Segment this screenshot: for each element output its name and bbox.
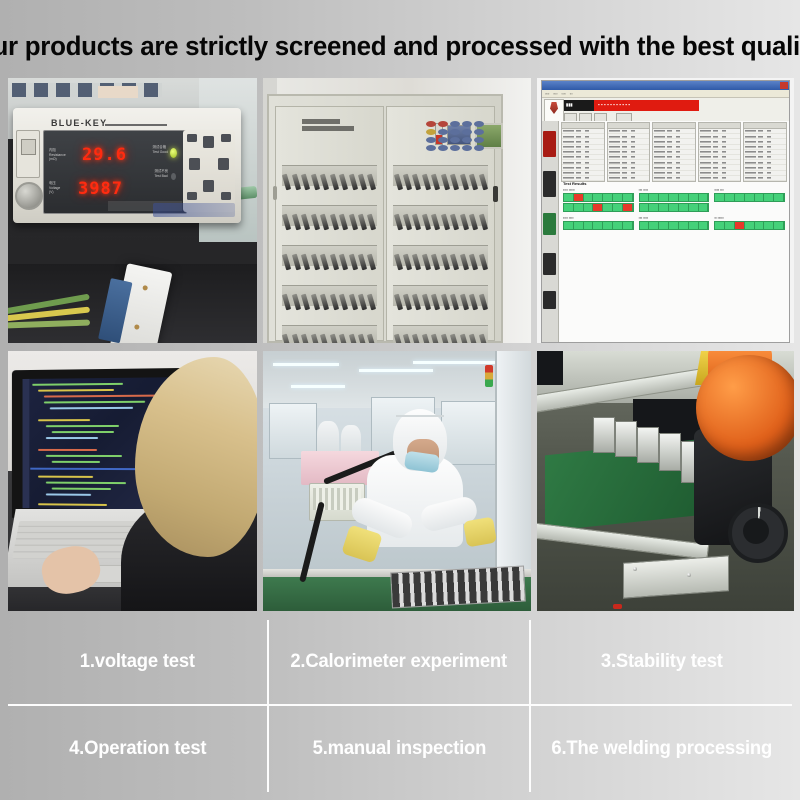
results-heading: Test Results: [563, 181, 785, 186]
caption-cell-6: 6.The welding processing: [531, 706, 792, 792]
caption-cell-1: 1.voltage test: [8, 620, 269, 706]
ceiling-light-3: [413, 361, 497, 364]
glove-right: [463, 517, 497, 548]
status-bar-pass: [563, 193, 634, 202]
ceiling-light-2: [359, 369, 433, 372]
shelf-4: [282, 285, 377, 306]
status-bar-pass: [639, 193, 710, 202]
key-3[interactable]: [187, 192, 197, 200]
caption-cell-2: 2.Calorimeter experiment: [269, 620, 530, 706]
parameter-tables: [561, 122, 787, 177]
fuse-port: [16, 130, 40, 178]
clip-row-r5: [393, 334, 488, 343]
clip-row-4: [282, 294, 377, 311]
result-group-3: ▪▪▪▪ ▪▪▪: [714, 188, 785, 212]
label-test-bad: 测试不良Test Bad: [154, 169, 168, 178]
caption-label-1: 1.voltage test: [80, 651, 195, 673]
key-enter[interactable]: [221, 192, 231, 200]
formation-cabinet: [267, 94, 503, 343]
shelf-items: [12, 83, 162, 97]
label-test-good: 测试合格Test Good: [153, 145, 168, 154]
result-group-6: ▪▪ ▪▪▪▪▪: [714, 216, 785, 230]
bg-worker-1: [317, 421, 339, 455]
test-results-section: Test Results ▪▪▪▪ ▪▪▪▪▪ ▪▪▪ ▪▪▪▪: [563, 181, 785, 234]
slide-screw-1: [633, 567, 637, 571]
photo-stability-test: ▫▫▫ ▫▫▫ ▫▫▫ ▫▫ ▮▮▮ ▪▪▪▪▪▪▪▪▪▪▪: [537, 78, 794, 343]
linear-slide: [623, 555, 729, 598]
guide-rail-bottom: [537, 522, 709, 560]
photo-voltage-test: BLUE-KEY 内阻Resistance(mΩ) 电压Voltage(V) 2…: [8, 78, 257, 343]
result-caption: ▪▪▪▪ ▪▪▪▪▪: [563, 188, 634, 192]
caption-label-3: 3.Stability test: [600, 651, 722, 673]
parameter-table-4: [698, 122, 742, 182]
tester-unit: BLUE-KEY 内阻Resistance(mΩ) 电压Voltage(V) 2…: [13, 108, 241, 223]
app-window: ▫▫▫ ▫▫▫ ▫▫▫ ▫▫ ▮▮▮ ▪▪▪▪▪▪▪▪▪▪▪: [541, 80, 790, 343]
photo-gallery: BLUE-KEY 内阻Resistance(mΩ) 电压Voltage(V) 2…: [8, 78, 794, 615]
cleanroom-operator: [361, 409, 463, 559]
toolbar: ▮▮▮ ▪▪▪▪▪▪▪▪▪▪▪: [542, 98, 789, 123]
result-group-1: ▪▪▪▪ ▪▪▪▪▪: [563, 188, 634, 212]
shelf-r1: [393, 165, 488, 186]
brand-rule: [105, 124, 167, 126]
hood-seam: [396, 415, 444, 417]
status-lamp-green: [170, 148, 177, 158]
result-caption: ▪▪ ▪▪▪▪▪: [714, 216, 785, 220]
shelf-1: [282, 165, 377, 186]
shelf-2: [282, 205, 377, 226]
parameter-table-3: [652, 122, 696, 182]
shelf-r2: [393, 205, 488, 226]
sidebar-item-5[interactable]: [543, 291, 556, 309]
fixture-block-1: [593, 417, 615, 453]
result-group-2: ▪▪▪ ▪▪▪▪: [639, 188, 710, 212]
gear-hub: [743, 518, 769, 544]
caption-table: 1.voltage test 2.Calorimeter experiment …: [8, 620, 792, 792]
shelf-r3: [393, 245, 488, 266]
clip-row-3: [282, 254, 377, 271]
sidebar-item-4[interactable]: [543, 253, 556, 275]
banner-mark: ▮▮▮: [566, 102, 573, 107]
clip-row-r2: [393, 214, 488, 231]
sidebar-item-2[interactable]: [543, 171, 556, 197]
shelf-box: [98, 86, 138, 98]
title-bar: [542, 81, 789, 90]
model-line-2: [302, 126, 354, 131]
device-brand-label: BLUE-KEY: [51, 118, 107, 128]
editor-gutter: [23, 379, 30, 508]
photo-manual-inspection: [263, 351, 531, 611]
clip-row-5: [282, 334, 377, 343]
cabinet-door-left[interactable]: [275, 106, 384, 341]
sidebar-item-1[interactable]: [543, 131, 556, 157]
menu-item-help[interactable]: ▫▫: [570, 91, 573, 96]
caption-cell-4: 4.Operation test: [8, 706, 269, 792]
door-handle-left[interactable]: [273, 186, 277, 200]
manufacturer-label: [153, 203, 235, 217]
clip-row-r1: [393, 174, 488, 191]
key-up[interactable]: [203, 136, 214, 148]
parameter-table-5: [743, 122, 787, 182]
clip-row-r4: [393, 294, 488, 311]
clip-row-1: [282, 174, 377, 191]
led-readout-primary: 29.6: [82, 145, 127, 165]
close-icon[interactable]: [780, 82, 788, 89]
key-right[interactable]: [218, 158, 229, 170]
caption-cell-5: 5.manual inspection: [269, 706, 530, 792]
results-row-1: ▪▪▪▪ ▪▪▪▪▪ ▪▪▪ ▪▪▪▪ ▪▪▪▪ ▪▪▪: [563, 188, 785, 212]
parameter-table-1: [561, 122, 605, 182]
dut-screw-bottom: [134, 324, 140, 330]
status-bar-pass: [563, 203, 634, 212]
result-caption: ▪▪▪ ▪▪▪▪: [639, 216, 710, 220]
key-left[interactable]: [189, 158, 200, 170]
result-group-5: ▪▪▪ ▪▪▪▪: [639, 216, 710, 230]
page-title: Our products are strictly screened and p…: [16, 24, 784, 68]
slide-screw-2: [687, 573, 691, 577]
cabinet-door-right[interactable]: [386, 106, 495, 341]
status-bar-mixed: [714, 221, 785, 230]
gear-wheel: [728, 503, 788, 563]
dut-screw-top: [142, 285, 148, 291]
shelf-r5: [393, 325, 488, 343]
label-resistance: 内阻Resistance(mΩ): [49, 148, 66, 162]
caption-label-6: 6.The welding processing: [551, 738, 772, 760]
parameter-table-2: [607, 122, 651, 182]
key-2[interactable]: [221, 134, 231, 142]
product-quality-banner: Our products are strictly screened and p…: [0, 0, 800, 800]
result-caption: ▪▪▪ ▪▪▪▪: [639, 188, 710, 192]
status-lamp-off: [171, 173, 176, 180]
menu-bar[interactable]: ▫▫▫ ▫▫▫ ▫▫▫ ▫▫: [542, 90, 789, 98]
input-jack: [15, 182, 43, 210]
key-down[interactable]: [203, 180, 214, 192]
photo-operation-test: [8, 351, 257, 611]
app-content: Test Results ▪▪▪▪ ▪▪▪▪▪ ▪▪▪ ▪▪▪▪: [559, 121, 789, 342]
shelf-3: [282, 245, 377, 266]
app-logo-icon: [544, 99, 564, 122]
cabinet-model-plate: [302, 119, 354, 135]
banner-title: ▪▪▪▪▪▪▪▪▪▪▪: [598, 102, 631, 107]
status-bar-pass: [639, 203, 710, 212]
caption-label-4: 4.Operation test: [69, 738, 206, 760]
fixture-block-3: [637, 427, 659, 463]
shadow-gap-1: [537, 351, 563, 385]
fixture-block-2: [615, 421, 637, 457]
shelf-5: [282, 325, 377, 343]
model-line-1: [302, 119, 340, 124]
indicator-led: [613, 604, 622, 609]
label-voltage: 电压Voltage(V): [49, 181, 60, 195]
robot-servo-motor: [696, 355, 794, 461]
status-bar-pass: [639, 221, 710, 230]
caption-cell-3: 3.Stability test: [531, 620, 792, 706]
control-panel[interactable]: [431, 117, 486, 159]
status-bar-pass: [563, 221, 634, 230]
result-caption: ▪▪▪▪ ▪▪▪: [714, 188, 785, 192]
fixture-block-4: [659, 433, 681, 471]
component-tray: [390, 566, 526, 609]
sidebar-nav[interactable]: [542, 121, 559, 342]
clip-row-2: [282, 214, 377, 231]
ceiling-light-1: [273, 363, 339, 366]
menu-item-file[interactable]: ▫▫▫: [545, 91, 549, 96]
led-readout-secondary: 3987: [78, 179, 123, 199]
key-1[interactable]: [187, 134, 197, 142]
door-handle-right[interactable]: [493, 186, 498, 202]
menu-item-edit[interactable]: ▫▫▫: [553, 91, 557, 96]
caption-label-5: 5.manual inspection: [312, 738, 485, 760]
results-row-2: ▪▪▪▪ ▪▪▪▪ ▪▪▪ ▪▪▪▪ ▪▪ ▪▪▪▪▪: [563, 216, 785, 230]
photo-welding-processing: [537, 351, 794, 611]
shelf-r4: [393, 285, 488, 306]
keypad[interactable]: [183, 130, 235, 212]
ceiling-light-4: [291, 385, 345, 388]
sidebar-item-3[interactable]: [543, 213, 556, 235]
photo-calorimeter-experiment: [263, 78, 531, 343]
clip-row-r3: [393, 254, 488, 271]
andon-stack-light-icon: [485, 365, 493, 387]
menu-item-view[interactable]: ▫▫▫: [562, 91, 566, 96]
caption-label-2: 2.Calorimeter experiment: [291, 651, 508, 673]
status-bar-pass: [714, 193, 785, 202]
result-caption: ▪▪▪▪ ▪▪▪▪: [563, 216, 634, 220]
keypad-buttons[interactable]: [426, 121, 484, 151]
result-group-4: ▪▪▪▪ ▪▪▪▪: [563, 216, 634, 230]
brand-banner: ▮▮▮ ▪▪▪▪▪▪▪▪▪▪▪: [564, 100, 699, 111]
